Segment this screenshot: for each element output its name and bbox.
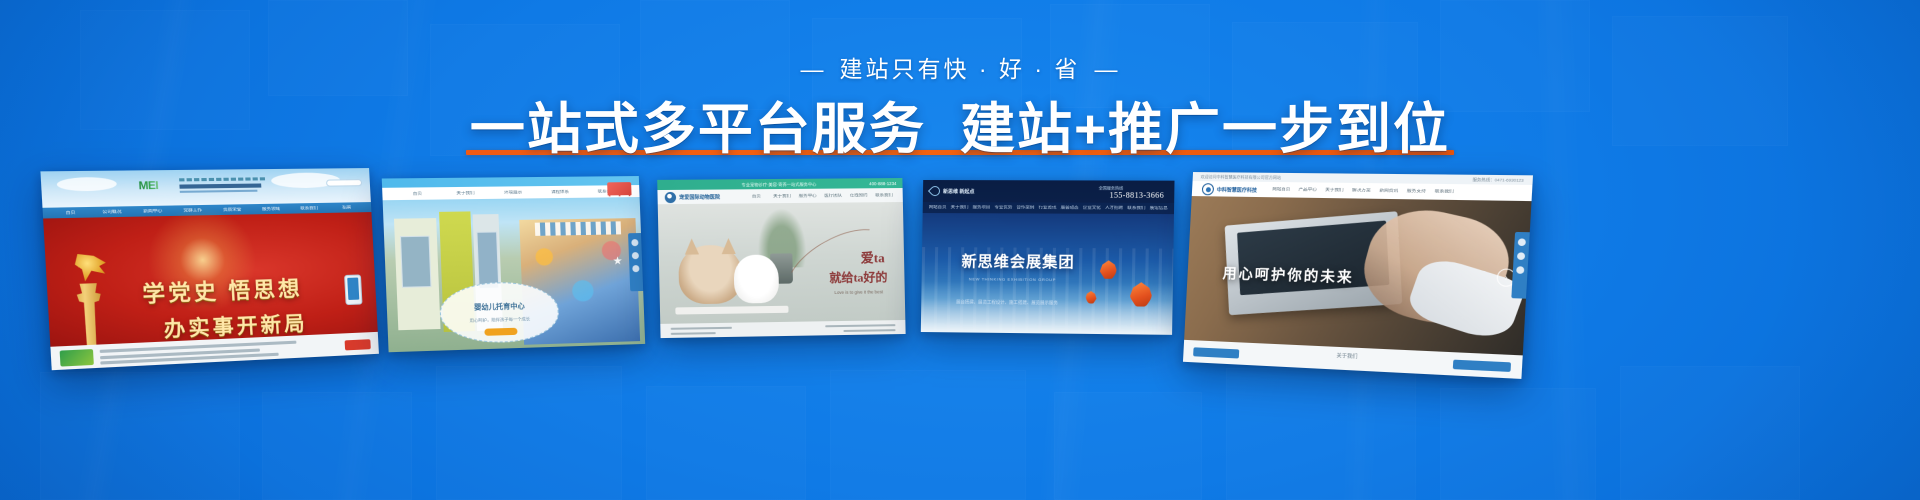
nav-item[interactable]: 服务项目 <box>970 205 992 210</box>
nav-item[interactable]: 医疗团队 <box>820 193 846 198</box>
site-screenshot: 专业宠物诊疗·美容·寄养一站式服务中心 400-888-1234 首页 关于我们… <box>657 178 905 338</box>
cta-button[interactable] <box>484 328 517 336</box>
showcase-card-exhibition-group-site[interactable]: 新思维会展集团 NEW THINKING EXHIBITION GROUP 展台… <box>921 180 1175 335</box>
eyebrow-dash-right: — <box>1080 58 1133 81</box>
site-hero-banner: 学党史 悟思想 办实事开新局 <box>43 212 378 347</box>
hero-headline-2: 就给ta好的 <box>829 268 888 286</box>
brand-name: 中科智慧医疗科技 <box>1217 186 1257 194</box>
nav-item[interactable]: 首页 <box>743 194 769 199</box>
nav-item[interactable]: 产品中心 <box>1294 188 1321 193</box>
footer-text-line <box>671 327 732 330</box>
footer-note: 关于我们 <box>1336 352 1357 360</box>
nav-item[interactable]: 联系我们 <box>871 193 896 198</box>
nav-item[interactable]: 公司概况 <box>91 209 132 214</box>
nav-item[interactable]: 联系我们 <box>290 206 328 211</box>
floating-contact-sidebar[interactable] <box>1511 232 1529 299</box>
nav-item[interactable]: 关于我们 <box>441 191 489 196</box>
nav-item[interactable]: 专业优势 <box>992 206 1014 211</box>
headline-part-1: 一站式多平台服务 <box>470 98 926 160</box>
hero-subtitle: NEW THINKING EXHIBITION GROUP <box>969 276 1056 282</box>
nav-item[interactable]: 联系我们 <box>1125 206 1147 211</box>
cat-photo <box>733 255 779 304</box>
qrcode-icon[interactable] <box>1516 266 1524 274</box>
bubble-title: 婴幼儿托育中心 <box>474 301 525 313</box>
page-title: 一站式多平台服务建站+推广一步到位 <box>470 100 1450 159</box>
phone-mockup <box>344 274 362 305</box>
hero-banner: —建站只有快 · 好 · 省— 一站式多平台服务建站+推广一步到位 MEI 首页… <box>0 0 1920 500</box>
showcase-card-medical-device-site[interactable]: 欢迎访问中科智慧医疗科技有限公司官方网站 服务热线：0471-6930123 网… <box>1183 172 1533 379</box>
nav-item[interactable]: 网站首页 <box>927 205 949 210</box>
eyebrow-line: —建站只有快 · 好 · 省— <box>0 58 1920 81</box>
panda-logo-icon <box>665 191 677 202</box>
window-shape <box>476 232 499 289</box>
showcase-card-pet-care-site[interactable]: 专业宠物诊疗·美容·寄养一站式服务中心 400-888-1234 首页 关于我们… <box>657 178 905 338</box>
bubble-subtitle: 用心呵护，陪伴孩子每一个成长 <box>470 316 531 324</box>
brand-name: 宠爱国际动物医院 <box>679 193 720 200</box>
chat-icon[interactable] <box>631 239 638 246</box>
online-consult-button[interactable] <box>1453 360 1511 372</box>
site-brand: 新思维 新起点 <box>930 186 975 196</box>
nav-item[interactable]: 首页 <box>393 191 442 196</box>
nav-item[interactable]: 人才招聘 <box>1103 206 1125 211</box>
site-screenshot: 新思维会展集团 NEW THINKING EXHIBITION GROUP 展台… <box>921 180 1175 335</box>
nav-item[interactable]: 关于我们 <box>949 205 971 210</box>
nav-item[interactable]: 行业资讯 <box>1036 206 1058 211</box>
hero-copy: —建站只有快 · 好 · 省— 一站式多平台服务建站+推广一步到位 <box>0 0 1920 159</box>
topbar-note: 专业宠物诊疗·美容·寄养一站式服务中心 <box>741 181 816 188</box>
party-emblem-icon <box>74 253 107 281</box>
nav-item[interactable]: 首页 <box>49 210 91 215</box>
chat-icon[interactable] <box>1517 253 1525 261</box>
phone-icon[interactable] <box>632 252 639 259</box>
site-header: 新思维 新起点 全国服务热线 155-8813-3666 <box>923 180 1175 203</box>
site-brand: 宠爱国际动物医院 <box>665 191 721 203</box>
site-hero-photo: 婴幼儿托育中心 用心呵护，陪伴孩子每一个成长 <box>383 197 646 352</box>
nav-item[interactable]: 展会动态 <box>1058 206 1080 211</box>
nav-item[interactable]: 在线预约 <box>846 193 872 198</box>
site-screenshot: 首页 关于我们 环境展示 课程体系 联系我们 <box>382 176 645 352</box>
site-hero-photo: 用心呵护你的未来 › <box>1184 196 1531 355</box>
qrcode-icon[interactable] <box>632 265 639 272</box>
nav-item[interactable]: 服务中心 <box>795 194 821 199</box>
site-navbar[interactable]: 网站首页 关于我们 服务项目 专业优势 合作案例 行业资讯 展会动态 企业文化 … <box>923 202 1174 214</box>
nav-item[interactable]: 联系我们 <box>1430 189 1458 194</box>
hero-headline-1: 学党史 悟思想 <box>142 272 304 309</box>
footer-text-line <box>825 324 895 327</box>
search-input[interactable] <box>326 179 362 187</box>
hero-subtitle: Love is to give it the best <box>834 290 883 296</box>
footer-button[interactable] <box>1193 347 1239 358</box>
hero-headline: 新思维会展集团 <box>961 250 1074 272</box>
site-brand: 中科智慧医疗科技 <box>1202 183 1258 196</box>
footer-logo <box>60 349 94 367</box>
column-monument-icon <box>72 283 109 352</box>
nav-item[interactable]: 课程体系 <box>537 189 584 194</box>
brand-mark-icon <box>928 184 942 198</box>
nav-item[interactable]: 新闻资讯 <box>1375 189 1403 194</box>
showcase-card-kindergarten-site[interactable]: 首页 关于我们 环境展示 课程体系 联系我们 <box>382 176 645 352</box>
floating-contact-sidebar[interactable] <box>628 233 643 291</box>
nav-item[interactable]: 合作案例 <box>1014 206 1036 211</box>
nav-item[interactable]: 关于我们 <box>1321 188 1348 193</box>
nav-item[interactable]: 服务支持 <box>1402 189 1430 194</box>
headline-part-2: 建站+推广一步到位 <box>960 98 1450 160</box>
nav-item[interactable]: 企业文化 <box>1081 206 1103 211</box>
hero-tagline: 展台搭建、展览工程设计、施工搭建、展览展示服务 <box>956 299 1058 306</box>
eyebrow-text: 建站只有快 · 好 · 省 <box>840 56 1081 82</box>
site-screenshot: MEI 首页 公司概况 新闻中心 党群工作 资质荣誉 服务领域 联系我们 招聘 <box>40 168 379 370</box>
hero-headline-1: 爱ta <box>861 247 885 266</box>
site-footer <box>660 320 905 338</box>
site-logo: MEI <box>138 180 158 193</box>
window-shape <box>400 236 431 288</box>
brand-name: 新思维 新起点 <box>943 188 975 195</box>
brand-mark-icon <box>1202 183 1215 195</box>
footer-text-line <box>671 332 716 335</box>
topbar-welcome: 欢迎访问中科智慧医疗科技有限公司官方网站 <box>1201 174 1282 181</box>
awning-stripe <box>535 221 621 236</box>
site-hero-photo: 爱ta 就给ta好的 Love is to give it the best <box>658 202 906 324</box>
nav-item[interactable]: 网站首页 <box>1268 187 1295 192</box>
nav-item[interactable]: 展馆信息 <box>1147 206 1169 211</box>
phone-icon[interactable] <box>1518 239 1526 247</box>
site-screenshot: 欢迎访问中科智慧医疗科技有限公司官方网站 服务热线：0471-6930123 网… <box>1183 172 1533 379</box>
nav-item[interactable]: 环境展示 <box>489 190 536 195</box>
eyebrow-dash-left: — <box>787 58 840 81</box>
showcase-card-party-government-site[interactable]: MEI 首页 公司概况 新闻中心 党群工作 资质荣誉 服务领域 联系我们 招聘 <box>40 168 379 370</box>
nav-item[interactable]: 解决方案 <box>1348 188 1375 193</box>
pet-feeder-shape <box>675 305 789 314</box>
back-to-top-button[interactable] <box>345 339 371 350</box>
nav-item[interactable]: 招聘 <box>328 205 365 210</box>
nav-item[interactable]: 关于我们 <box>769 194 795 199</box>
phone-number: 155-8813-3666 <box>1109 191 1164 200</box>
footer-text-line <box>843 329 895 332</box>
topbar-hotline: 服务热线：0471-6930123 <box>1472 177 1524 184</box>
topbar-phone: 400-888-1234 <box>869 181 896 186</box>
headline-wrapper: 一站式多平台服务建站+推广一步到位 <box>470 100 1450 159</box>
